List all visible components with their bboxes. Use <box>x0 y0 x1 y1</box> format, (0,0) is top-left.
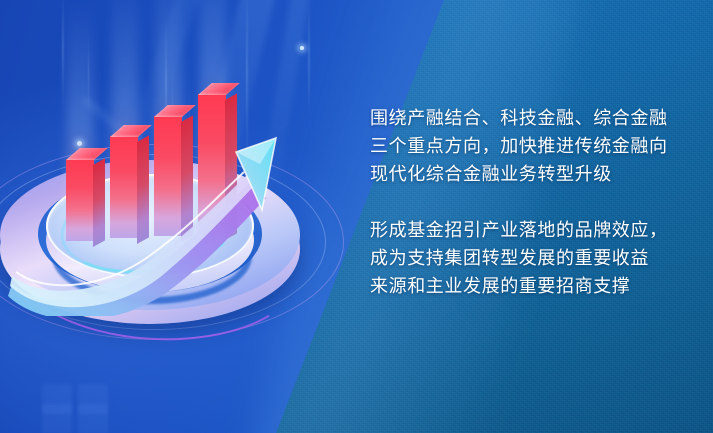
paragraph-two-line-2: 成为支持集团转型发展的重要收益 <box>370 244 690 272</box>
paragraph-one-line-3: 现代化综合金融业务转型升级 <box>370 160 690 188</box>
paragraph-two-line-1: 形成基金招引产业落地的品牌效应， <box>370 216 690 244</box>
banner-stage: 围绕产融结合、科技金融、综合金融 三个重点方向，加快推进传统金融向 现代化综合金… <box>0 0 713 433</box>
paragraph-one-line-1: 围绕产融结合、科技金融、综合金融 <box>370 104 690 132</box>
paragraph-two: 形成基金招引产业落地的品牌效应， 成为支持集团转型发展的重要收益 来源和主业发展… <box>370 216 690 300</box>
sparkle-dot <box>300 46 304 50</box>
copy-block: 围绕产融结合、科技金融、综合金融 三个重点方向，加快推进传统金融向 现代化综合金… <box>370 104 690 300</box>
upward-arrow-icon <box>4 136 304 316</box>
paragraph-one-line-2: 三个重点方向，加快推进传统金融向 <box>370 132 690 160</box>
grid-square <box>42 404 72 433</box>
paragraph-two-line-3: 来源和主业发展的重要招商支撑 <box>370 272 690 300</box>
grid-square <box>78 404 108 433</box>
paragraph-one: 围绕产融结合、科技金融、综合金融 三个重点方向，加快推进传统金融向 现代化综合金… <box>370 104 690 188</box>
growth-chart-illustration <box>0 96 324 376</box>
vertical-streak <box>62 0 64 110</box>
